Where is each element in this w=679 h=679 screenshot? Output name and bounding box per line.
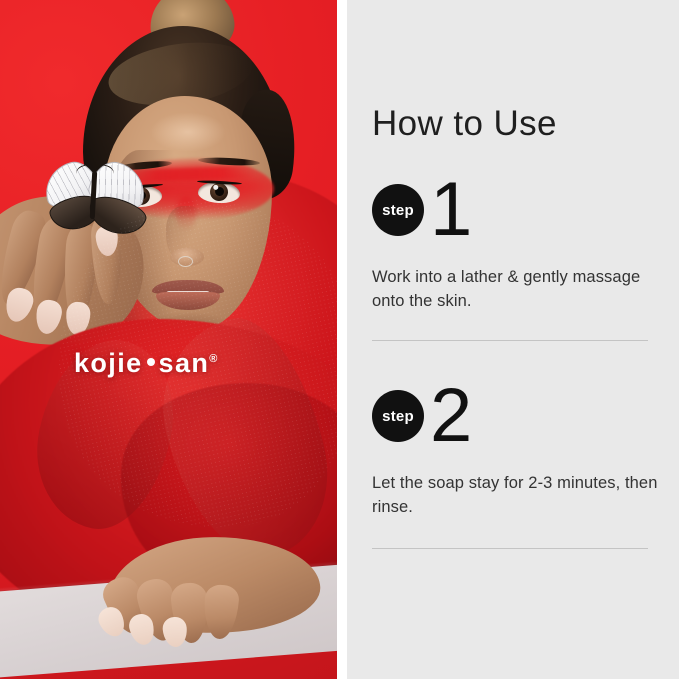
product-infographic: kojiesan® How to Use step 1 Work into a … [0,0,679,679]
step-header-1: step 1 [372,184,662,270]
page-title: How to Use [372,106,557,141]
step-number-2: 2 [430,378,471,454]
panel-divider-gap [337,0,347,679]
logo-dot-icon [147,358,155,366]
forehead-highlight [150,112,226,152]
product-hero-photo: kojiesan® [0,0,337,679]
step-divider-2 [372,548,648,549]
step-divider-1 [372,340,648,341]
step-item-2: step 2 Let the soap stay for 2-3 minutes… [372,390,662,476]
step-badge-2: step [372,390,424,442]
step-number-1: 1 [430,172,471,248]
step-description-2: Let the soap stay for 2-3 minutes, then … [372,472,662,520]
logo-text-secondary: san [159,348,210,378]
step-header-2: step 2 [372,390,662,476]
step-badge-1: step [372,184,424,236]
registered-trademark-icon: ® [209,353,217,365]
instructions-panel: How to Use step 1 Work into a lather & g… [347,0,679,679]
step-description-1: Work into a lather & gently massage onto… [372,266,662,314]
photo-stage: kojiesan® [0,0,337,679]
brand-logo: kojiesan® [74,348,217,379]
step-item-1: step 1 Work into a lather & gently massa… [372,184,662,270]
logo-text-primary: kojie [74,348,143,378]
